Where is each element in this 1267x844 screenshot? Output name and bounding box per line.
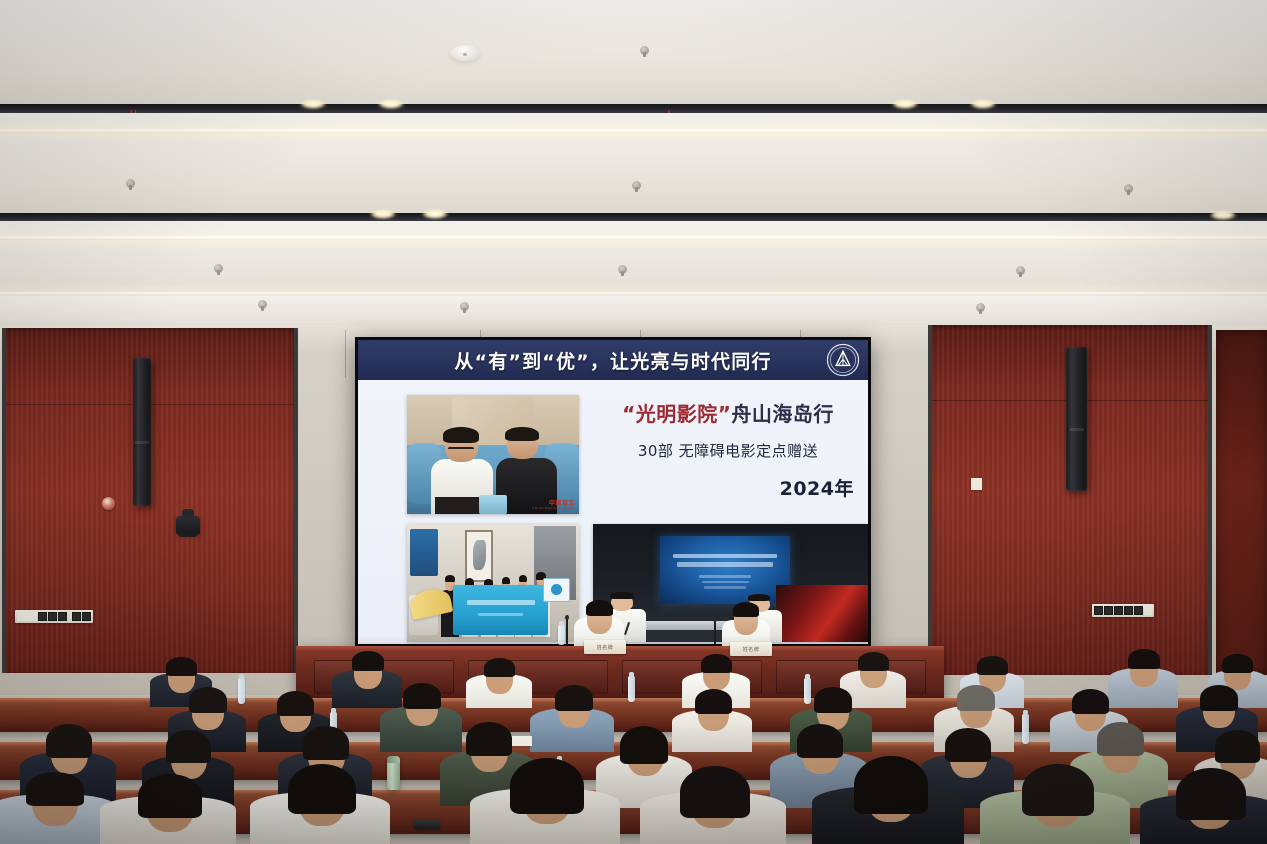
- audience-person: [470, 766, 620, 844]
- slide-subline: 30部 无障碍电影定点赠送: [586, 440, 868, 461]
- audience-person: [980, 770, 1130, 844]
- fire-sprinkler: [632, 181, 641, 190]
- fire-sprinkler: [460, 302, 469, 311]
- nameplate-left-text: 姓名牌: [597, 644, 614, 651]
- column-speaker-left: [133, 358, 151, 506]
- audience-person: [1140, 774, 1267, 844]
- wall-camera-icon: [176, 516, 200, 534]
- nameplate-left: 姓名牌: [584, 640, 626, 654]
- desk-microphone-left: [566, 618, 568, 644]
- institution-emblem-icon: [826, 343, 860, 377]
- slide-text-column: “光明影院”舟山海岛行 30部 无障碍电影定点赠送 2024年: [586, 402, 868, 501]
- fire-sprinkler: [640, 46, 649, 55]
- wall-outlet-plate: [971, 478, 982, 490]
- fire-sprinkler: [1016, 266, 1025, 275]
- water-bottle: [628, 676, 635, 702]
- fire-alarm-bell-icon: [102, 497, 115, 510]
- wood-wall-panel-far-right: [1216, 330, 1267, 675]
- recessed-spotlight: [378, 100, 404, 109]
- fire-sprinkler: [1124, 184, 1133, 193]
- water-bottle-rostrum: [558, 625, 565, 645]
- smartphone: [414, 820, 440, 829]
- conference-hall-photo: 从“有”到“优”，让光亮与时代同行: [0, 0, 1267, 844]
- fire-sprinkler: [126, 179, 135, 188]
- recessed-spotlight: [300, 100, 326, 109]
- fire-sprinkler: [618, 265, 627, 274]
- water-bottle: [1022, 714, 1029, 744]
- audience-person: [466, 656, 532, 708]
- slide-photo-group-banner: [407, 524, 579, 642]
- wall-switch-panel-right[interactable]: [1092, 604, 1154, 617]
- smoke-detector: [450, 45, 480, 61]
- fire-sprinkler: [976, 303, 985, 312]
- audience-person: [640, 772, 786, 844]
- slide-headline-quoted: “光明影院”: [622, 402, 731, 426]
- recessed-spotlight: [422, 210, 448, 219]
- wall-switch-panel-left[interactable]: [15, 610, 93, 623]
- column-speaker-right: [1066, 347, 1087, 491]
- ceiling: [0, 0, 1267, 332]
- recessed-spotlight: [892, 100, 918, 109]
- audience-person: [812, 764, 964, 844]
- audience-person: [250, 770, 390, 844]
- slide-header: 从“有”到“优”，让光亮与时代同行: [358, 340, 868, 380]
- fire-sprinkler: [214, 264, 223, 273]
- fire-sprinkler: [258, 300, 267, 309]
- slide-headline: “光明影院”舟山海岛行: [586, 402, 868, 427]
- desk-microphone-right: [714, 620, 716, 644]
- event-banner: [453, 585, 548, 635]
- slide-title: 从“有”到“优”，让光亮与时代同行: [454, 347, 771, 374]
- recessed-spotlight: [970, 100, 996, 109]
- audience-person: [100, 778, 236, 844]
- recessed-spotlight: [370, 210, 396, 219]
- slide-headline-rest: 舟山海岛行: [731, 402, 834, 426]
- recessed-spotlight: [1210, 211, 1236, 220]
- photo-watermark: 中国盲文CHINA BRAILLE PRESS: [532, 501, 575, 510]
- slide-photo-sofa-demo: 中国盲文CHINA BRAILLE PRESS: [407, 395, 579, 514]
- slide-year: 2024年: [586, 474, 868, 501]
